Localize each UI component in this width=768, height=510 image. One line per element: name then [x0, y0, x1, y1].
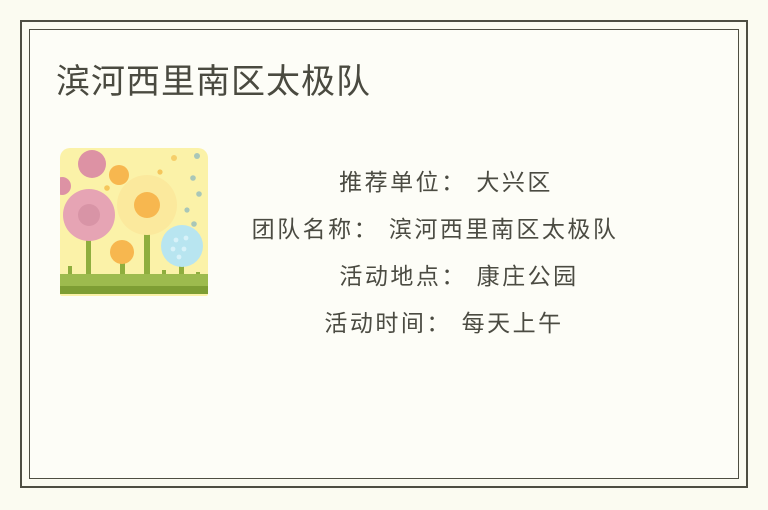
pink-flower-tiny — [60, 177, 71, 195]
speckle-dot — [171, 155, 177, 161]
blue-flower-dot — [171, 247, 176, 252]
speckle-dot — [190, 175, 196, 181]
blue-flower-dot — [174, 238, 179, 243]
info-block: 推荐单位： 大兴区 团队名称： 滨河西里南区太极队 活动地点： 康庄公园 活动时… — [225, 160, 645, 348]
page-title: 滨河西里南区太极队 — [56, 60, 371, 104]
grass-band — [60, 274, 208, 288]
blue-flower — [161, 225, 203, 267]
pink-flower-small — [78, 150, 106, 178]
blue-flower-dot — [184, 236, 189, 241]
speckle-dot — [157, 169, 162, 174]
info-line-recommending-unit: 推荐单位： 大兴区 — [225, 160, 645, 207]
orange-flower-small — [110, 240, 134, 264]
blue-flower-dot — [182, 247, 187, 252]
yellow-flower-large-center — [134, 192, 160, 218]
flower-garden-illustration — [60, 148, 208, 296]
illustration-graphic — [60, 148, 208, 296]
pink-flower-large-center — [78, 204, 100, 226]
blue-flower-dot — [177, 255, 182, 260]
speckle-dot — [194, 153, 200, 159]
info-line-team-name: 团队名称： 滨河西里南区太极队 — [225, 207, 645, 254]
info-line-activity-location: 活动地点： 康庄公园 — [225, 254, 645, 301]
orange-flower-tiny — [109, 165, 129, 185]
speckle-dot — [184, 207, 189, 212]
speckle-dot — [104, 185, 110, 191]
info-line-activity-time: 活动时间： 每天上午 — [225, 301, 645, 348]
speckle-dot — [196, 191, 202, 197]
page-root: 滨河西里南区太极队 — [0, 0, 768, 510]
speckle-dot — [191, 221, 197, 227]
grass-band-shadow — [60, 286, 208, 294]
